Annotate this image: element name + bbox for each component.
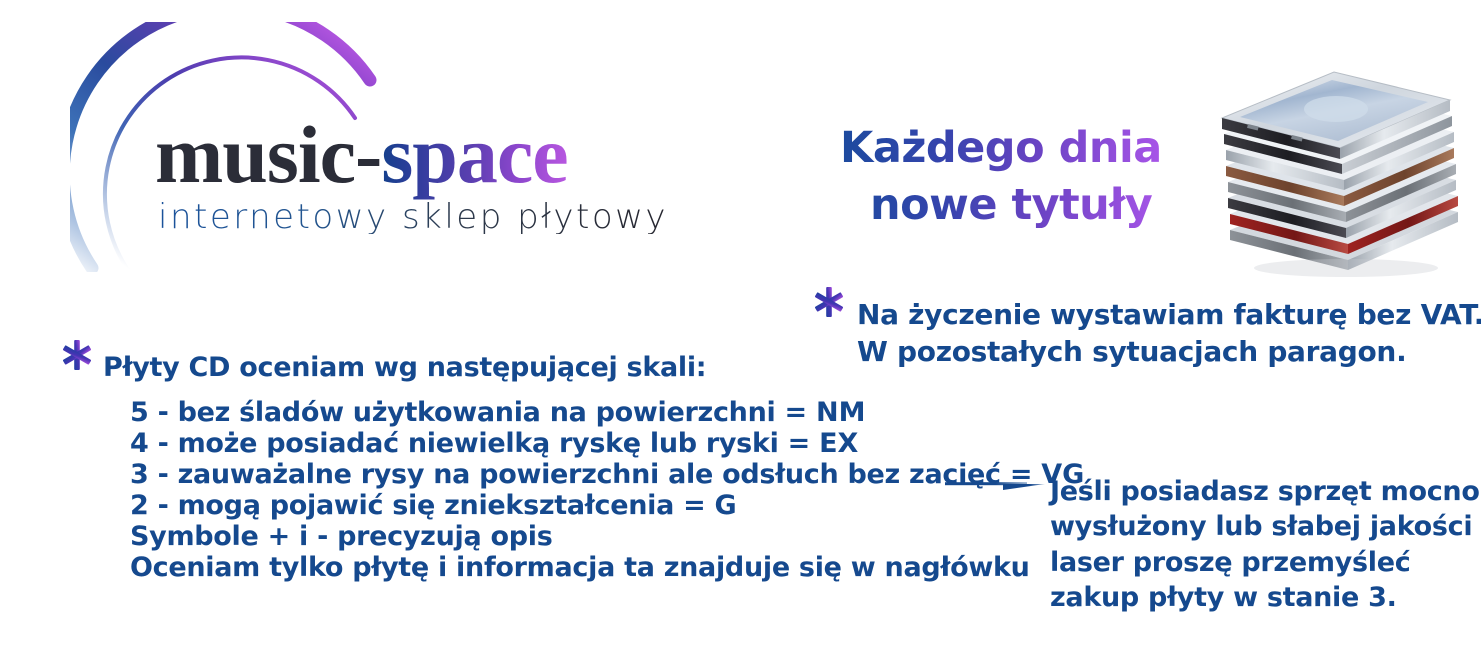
- asterisk-icon: [812, 285, 846, 319]
- arrow-right-icon: [945, 476, 1045, 492]
- advice-line-1: Jeśli posiadasz sprzęt mocno: [1050, 474, 1480, 509]
- slogan-line-1: Każdego dnia: [840, 120, 1162, 177]
- vat-note: Na życzenie wystawiam fakturę bez VAT. W…: [857, 296, 1481, 370]
- grading-row-text: 2 - mogą pojawić się zniekształcenia =: [130, 490, 715, 521]
- grading-row: 3 - zauważalne rysy na powierzchni ale o…: [130, 460, 1084, 491]
- brand-logo[interactable]: music-space internetowy sklep płytowy: [70, 22, 770, 272]
- grading-row-text: 3 - zauważalne rysy na powierzchni ale o…: [130, 459, 1041, 490]
- grading-row-header-note: Oceniam tylko płytę i informacja ta znaj…: [130, 553, 1084, 584]
- logo-tagline: internetowy sklep płytowy: [158, 200, 668, 234]
- grading-heading: Płyty CD oceniam wg następującej skali:: [103, 352, 706, 383]
- grading-row-text: 5 - bez śladów użytkowania na powierzchn…: [130, 397, 816, 428]
- grading-row: 4 - może posiadać niewielką ryskę lub ry…: [130, 429, 1084, 460]
- asterisk-icon: [60, 338, 94, 372]
- grading-row-grade: EX: [819, 428, 858, 459]
- cd-jewel-case-stack-image: [1196, 62, 1468, 284]
- grading-heading-cd: CD: [189, 352, 231, 383]
- grading-row-text: 4 - może posiadać niewielką ryskę lub ry…: [130, 428, 819, 459]
- advice-line-4: zakup płyty w stanie 3.: [1050, 580, 1480, 615]
- vat-note-line-1: Na życzenie wystawiam fakturę bez VAT.: [857, 296, 1481, 333]
- grading-heading-post: oceniam wg następującej skali:: [230, 352, 706, 383]
- grading-heading-pre: Płyty: [103, 352, 189, 383]
- vat-note-line-2: W pozostałych sytuacjach paragon.: [857, 333, 1481, 370]
- grading-row-symbols: Symbole + i - precyzują opis: [130, 522, 1084, 553]
- advice-note: Jeśli posiadasz sprzęt mocno wysłużony l…: [1050, 474, 1480, 615]
- advice-line-2: wysłużony lub słabej jakości: [1050, 509, 1480, 544]
- slogan: Każdego dnia nowe tytuły: [840, 120, 1162, 234]
- advice-line-3: laser proszę przemyśleć: [1050, 545, 1480, 580]
- slogan-line-2: nowe tytuły: [840, 177, 1162, 234]
- logo-wordmark-music: music-: [155, 109, 381, 200]
- grading-row-grade: G: [715, 490, 737, 521]
- logo-wordmark: music-space: [155, 114, 568, 196]
- grading-row-grade: NM: [816, 397, 865, 428]
- grading-scale-list: 5 - bez śladów użytkowania na powierzchn…: [130, 398, 1084, 584]
- grading-row: 5 - bez śladów użytkowania na powierzchn…: [130, 398, 1084, 429]
- grading-row: 2 - mogą pojawić się zniekształcenia = G: [130, 491, 1084, 522]
- logo-wordmark-space: space: [381, 109, 567, 200]
- promo-banner: music-space internetowy sklep płytowy Ka…: [0, 0, 1481, 655]
